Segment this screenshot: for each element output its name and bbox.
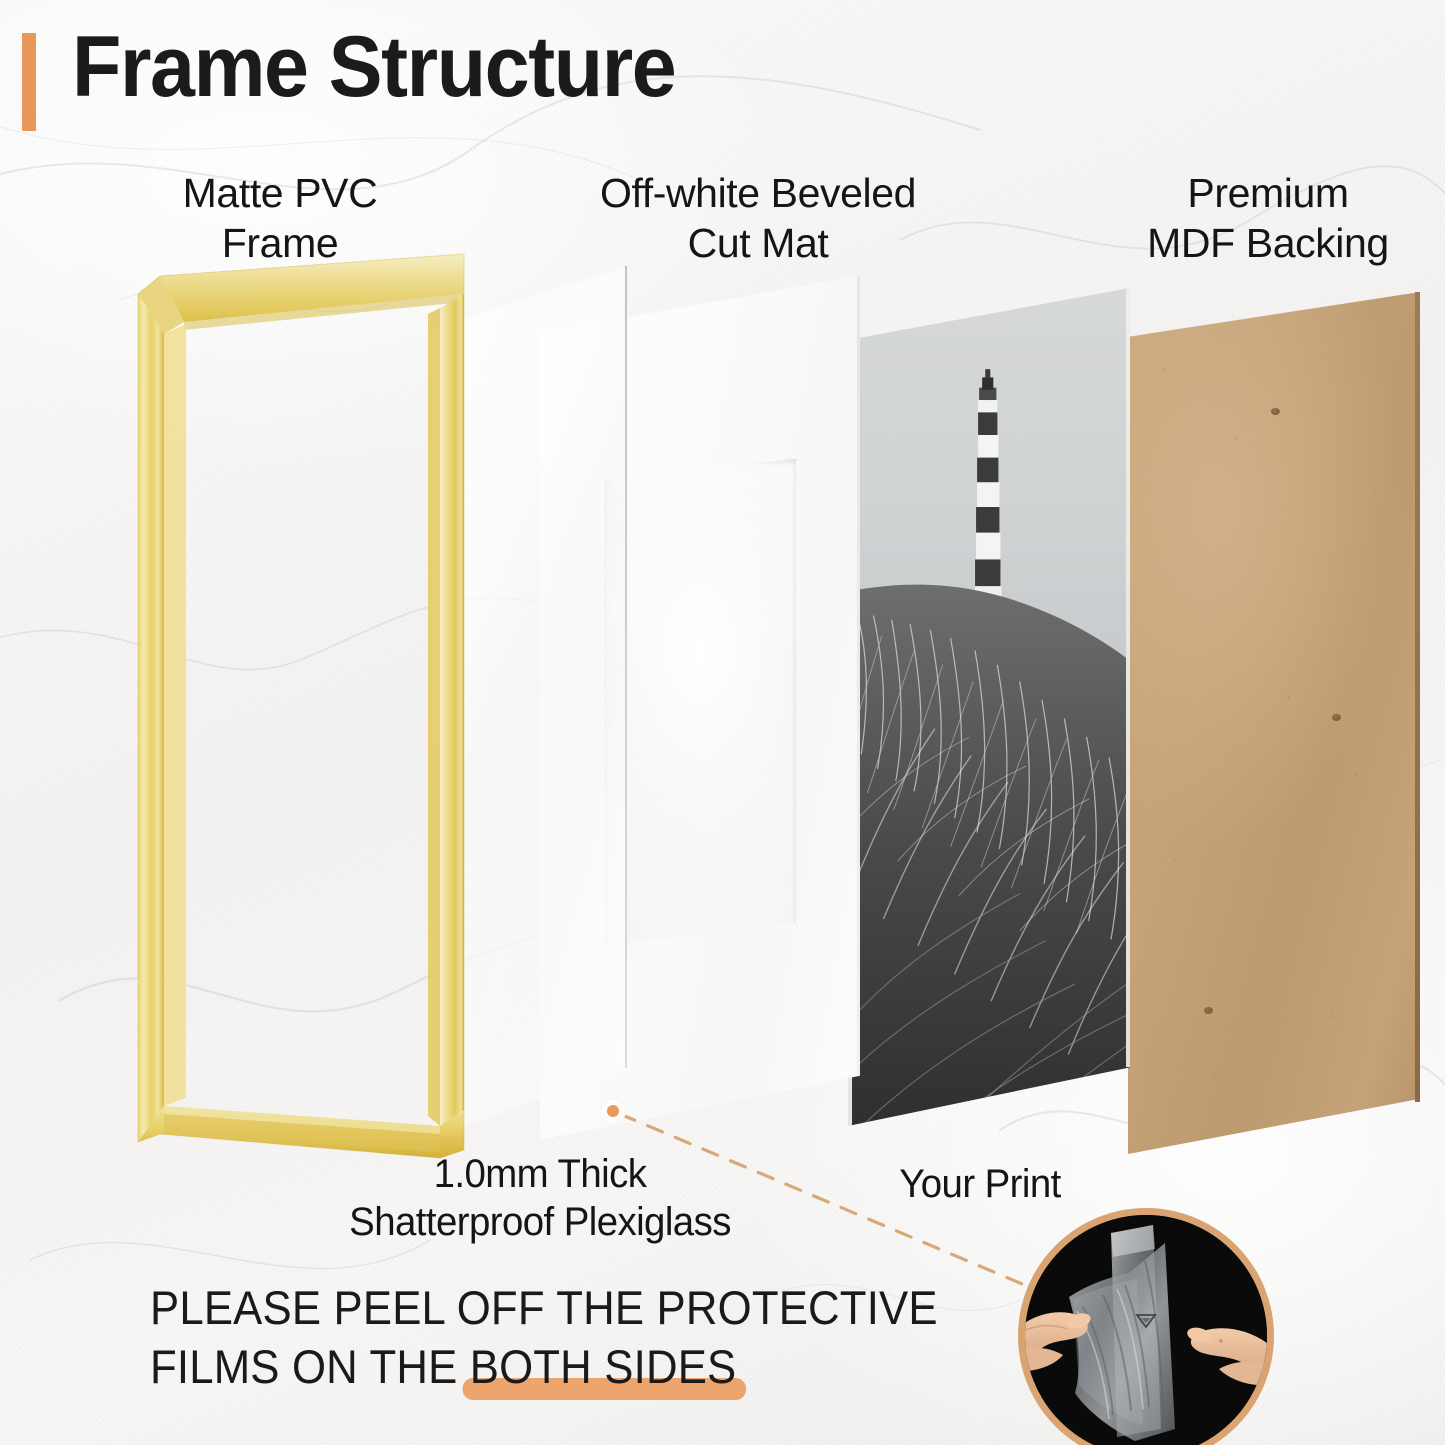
banner-line-1: PLEASE PEEL OFF THE PROTECTIVE bbox=[150, 1278, 987, 1337]
infographic-canvas: Frame Structure Matte PVC Frame Off-whit… bbox=[0, 0, 1445, 1445]
label-mdf-backing: Premium MDF Backing bbox=[1088, 168, 1445, 268]
label-plexiglass: 1.0mm Thick Shatterproof Plexiglass bbox=[281, 1150, 799, 1246]
label-cut-mat: Off-white Beveled Cut Mat bbox=[558, 168, 958, 268]
layer-your-print bbox=[848, 288, 1130, 1126]
print-photo-face bbox=[848, 288, 1130, 1126]
lighthouse-dune-photograph bbox=[848, 288, 1130, 1126]
mdf-fiber-texture bbox=[1128, 292, 1420, 1154]
layer-mdf-backing bbox=[1128, 292, 1420, 1154]
gold-frame-profile bbox=[60, 250, 480, 1160]
mdf-right-edge bbox=[1415, 292, 1420, 1102]
layer-pvc-frame bbox=[60, 250, 480, 1160]
label-your-print: Your Print bbox=[865, 1160, 1095, 1208]
peel-film-banner: PLEASE PEEL OFF THE PROTECTIVE FILMS ON … bbox=[150, 1278, 1050, 1396]
page-title: Frame Structure bbox=[72, 24, 675, 110]
mat-right-edge bbox=[857, 275, 860, 1074]
banner-highlight-wrap: BOTH SIDES bbox=[470, 1337, 737, 1396]
banner-line-2-highlight: BOTH SIDES bbox=[470, 1340, 737, 1393]
print-right-edge bbox=[1126, 288, 1130, 1067]
title-accent-bar bbox=[22, 33, 36, 131]
banner-line-2-prefix: FILMS ON THE bbox=[150, 1340, 470, 1393]
mat-bevel-edge bbox=[604, 459, 796, 945]
peeling-film-illustration bbox=[1025, 1215, 1267, 1445]
callout-marker-dot bbox=[600, 1098, 626, 1124]
plexiglass-right-edge bbox=[625, 266, 627, 1068]
banner-line-2: FILMS ON THE BOTH SIDES bbox=[150, 1337, 987, 1396]
